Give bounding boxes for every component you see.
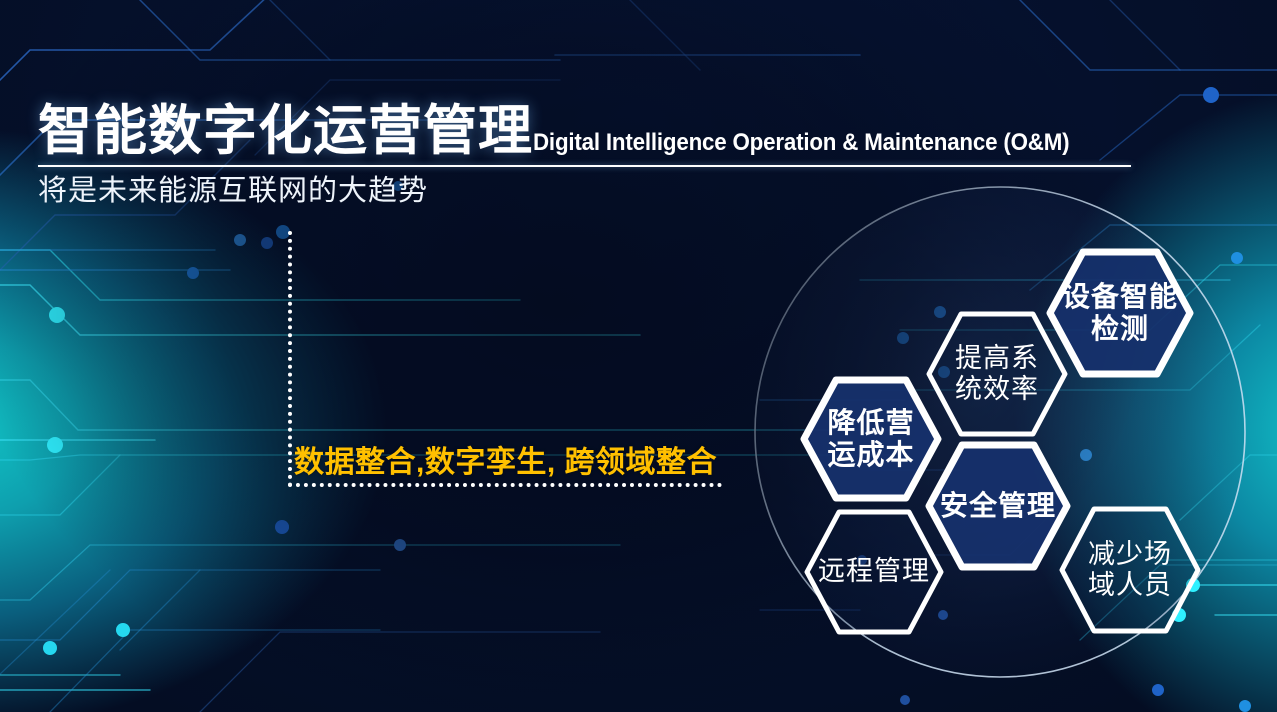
title-underline bbox=[38, 165, 1131, 167]
hexagon-remote-management[interactable]: 远程管理 bbox=[803, 508, 945, 636]
hexagon-label: 设备智能 检测 bbox=[1062, 281, 1178, 346]
hexagon-reduce-onsite-personnel[interactable]: 减少场 域人员 bbox=[1058, 505, 1202, 635]
hexagon-safety-management[interactable]: 安全管理 bbox=[925, 440, 1071, 572]
hexagon-label: 减少场 域人员 bbox=[1088, 539, 1172, 602]
page-title-cn: 智能数字化运营管理 bbox=[38, 104, 533, 158]
page-title-en: Digital Intelligence Operation & Mainten… bbox=[533, 131, 1069, 158]
hexagon-reduce-operating-cost[interactable]: 降低营 运成本 bbox=[800, 375, 942, 503]
callout-highlight-text: 数据整合,数字孪生, 跨领域整合 bbox=[294, 437, 717, 481]
hexagon-label: 远程管理 bbox=[818, 556, 930, 587]
hexagon-improve-system-efficiency[interactable]: 提高系 统效率 bbox=[925, 310, 1069, 438]
hexagon-label: 提高系 统效率 bbox=[955, 343, 1039, 406]
hexagon-label: 安全管理 bbox=[940, 490, 1056, 522]
title-block: 智能数字化运营管理 Digital Intelligence Operation… bbox=[38, 104, 1148, 208]
page-subtitle: 将是未来能源互联网的大趋势 bbox=[38, 176, 1148, 208]
hexagon-label: 降低营 运成本 bbox=[827, 407, 914, 472]
slide-root: 智能数字化运营管理 Digital Intelligence Operation… bbox=[0, 0, 1277, 712]
title-row: 智能数字化运营管理 Digital Intelligence Operation… bbox=[38, 104, 1148, 158]
